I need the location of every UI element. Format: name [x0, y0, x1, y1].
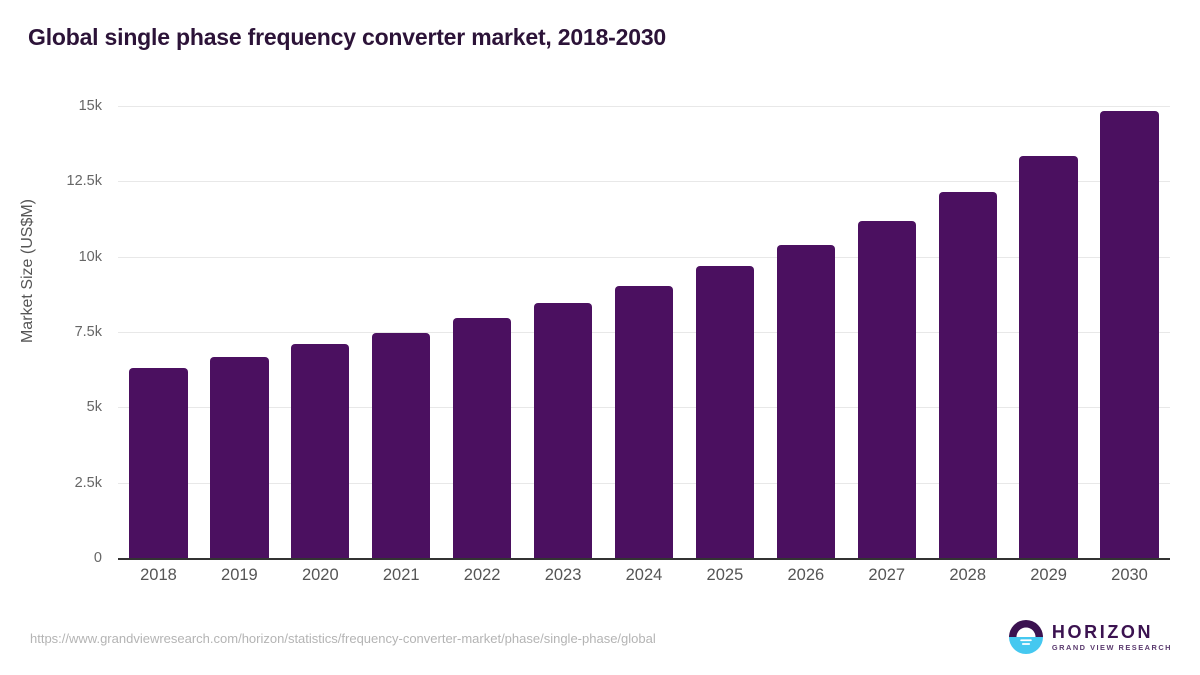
- bar[interactable]: [939, 192, 997, 558]
- bar[interactable]: [210, 357, 268, 558]
- bar[interactable]: [615, 286, 673, 558]
- x-axis-tick-label: 2026: [765, 566, 846, 585]
- x-axis-tick-label: 2021: [361, 566, 442, 585]
- horizon-sun-circle-icon: [1009, 620, 1043, 654]
- bar[interactable]: [129, 368, 187, 558]
- bar[interactable]: [1019, 156, 1077, 558]
- page-title: Global single phase frequency converter …: [28, 24, 666, 51]
- bar-slot: [442, 106, 523, 558]
- x-axis-tick-label: 2025: [684, 566, 765, 585]
- bar-slot: [280, 106, 361, 558]
- x-axis-tick-label: 2027: [846, 566, 927, 585]
- x-axis-tick-label: 2020: [280, 566, 361, 585]
- y-axis-tick-label: 10k: [22, 249, 102, 265]
- bar[interactable]: [534, 303, 592, 558]
- bar[interactable]: [1100, 111, 1158, 558]
- bar-slot: [604, 106, 685, 558]
- brand-name: HORIZON: [1052, 623, 1172, 641]
- bar-slot: [927, 106, 1008, 558]
- y-axis-tick-label: 5k: [22, 399, 102, 415]
- x-axis-tick-label: 2024: [604, 566, 685, 585]
- bar-slot: [523, 106, 604, 558]
- bar[interactable]: [696, 266, 754, 558]
- x-axis-line: [118, 558, 1170, 560]
- x-axis-tick-labels: 2018201920202021202220232024202520262027…: [118, 566, 1170, 596]
- x-axis-tick-label: 2018: [118, 566, 199, 585]
- source-url-label[interactable]: https://www.grandviewresearch.com/horizo…: [30, 631, 656, 646]
- bar-slot: [846, 106, 927, 558]
- y-axis-tick-label: 12.5k: [22, 173, 102, 189]
- bar-series: [118, 106, 1170, 558]
- bar-slot: [684, 106, 765, 558]
- x-axis-tick-label: 2030: [1089, 566, 1170, 585]
- bar[interactable]: [858, 221, 916, 558]
- bar-slot: [361, 106, 442, 558]
- bar-slot: [765, 106, 846, 558]
- x-axis-tick-label: 2022: [442, 566, 523, 585]
- x-axis-tick-label: 2019: [199, 566, 280, 585]
- brand-tagline: GRAND VIEW RESEARCH: [1052, 644, 1172, 651]
- bar[interactable]: [453, 318, 511, 558]
- bar[interactable]: [291, 344, 349, 558]
- bar-slot: [1008, 106, 1089, 558]
- bar-slot: [118, 106, 199, 558]
- bar[interactable]: [372, 333, 430, 558]
- y-axis-tick-label: 0: [22, 550, 102, 566]
- x-axis-tick-label: 2029: [1008, 566, 1089, 585]
- y-axis-tick-label: 15k: [22, 98, 102, 114]
- bar[interactable]: [777, 245, 835, 558]
- bar-slot: [1089, 106, 1170, 558]
- brand-logo-text: HORIZON GRAND VIEW RESEARCH: [1052, 623, 1172, 651]
- y-axis-tick-label: 2.5k: [22, 475, 102, 491]
- y-axis-tick-label: 7.5k: [22, 324, 102, 340]
- x-axis-tick-label: 2028: [927, 566, 1008, 585]
- y-axis-tick-labels: 02.5k5k7.5k10k12.5k15k: [14, 106, 102, 558]
- x-axis-tick-label: 2023: [523, 566, 604, 585]
- brand-logo[interactable]: HORIZON GRAND VIEW RESEARCH: [1009, 618, 1172, 656]
- chart-canvas: Global single phase frequency converter …: [0, 0, 1200, 675]
- bar-slot: [199, 106, 280, 558]
